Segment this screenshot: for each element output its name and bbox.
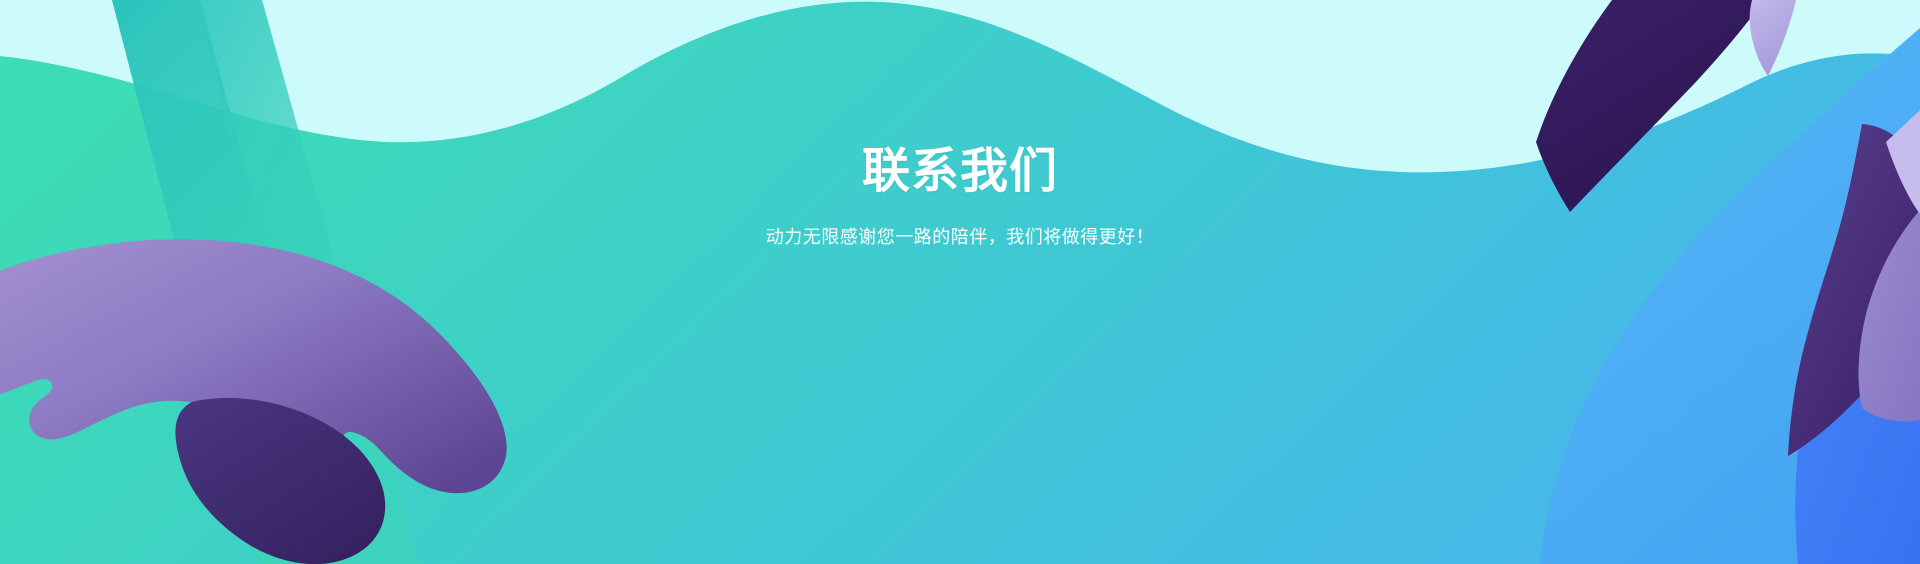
contact-us-banner: 联系我们 动力无限感谢您一路的陪伴，我们将做得更好！: [0, 0, 1920, 564]
decorative-background-art: [0, 0, 1920, 564]
